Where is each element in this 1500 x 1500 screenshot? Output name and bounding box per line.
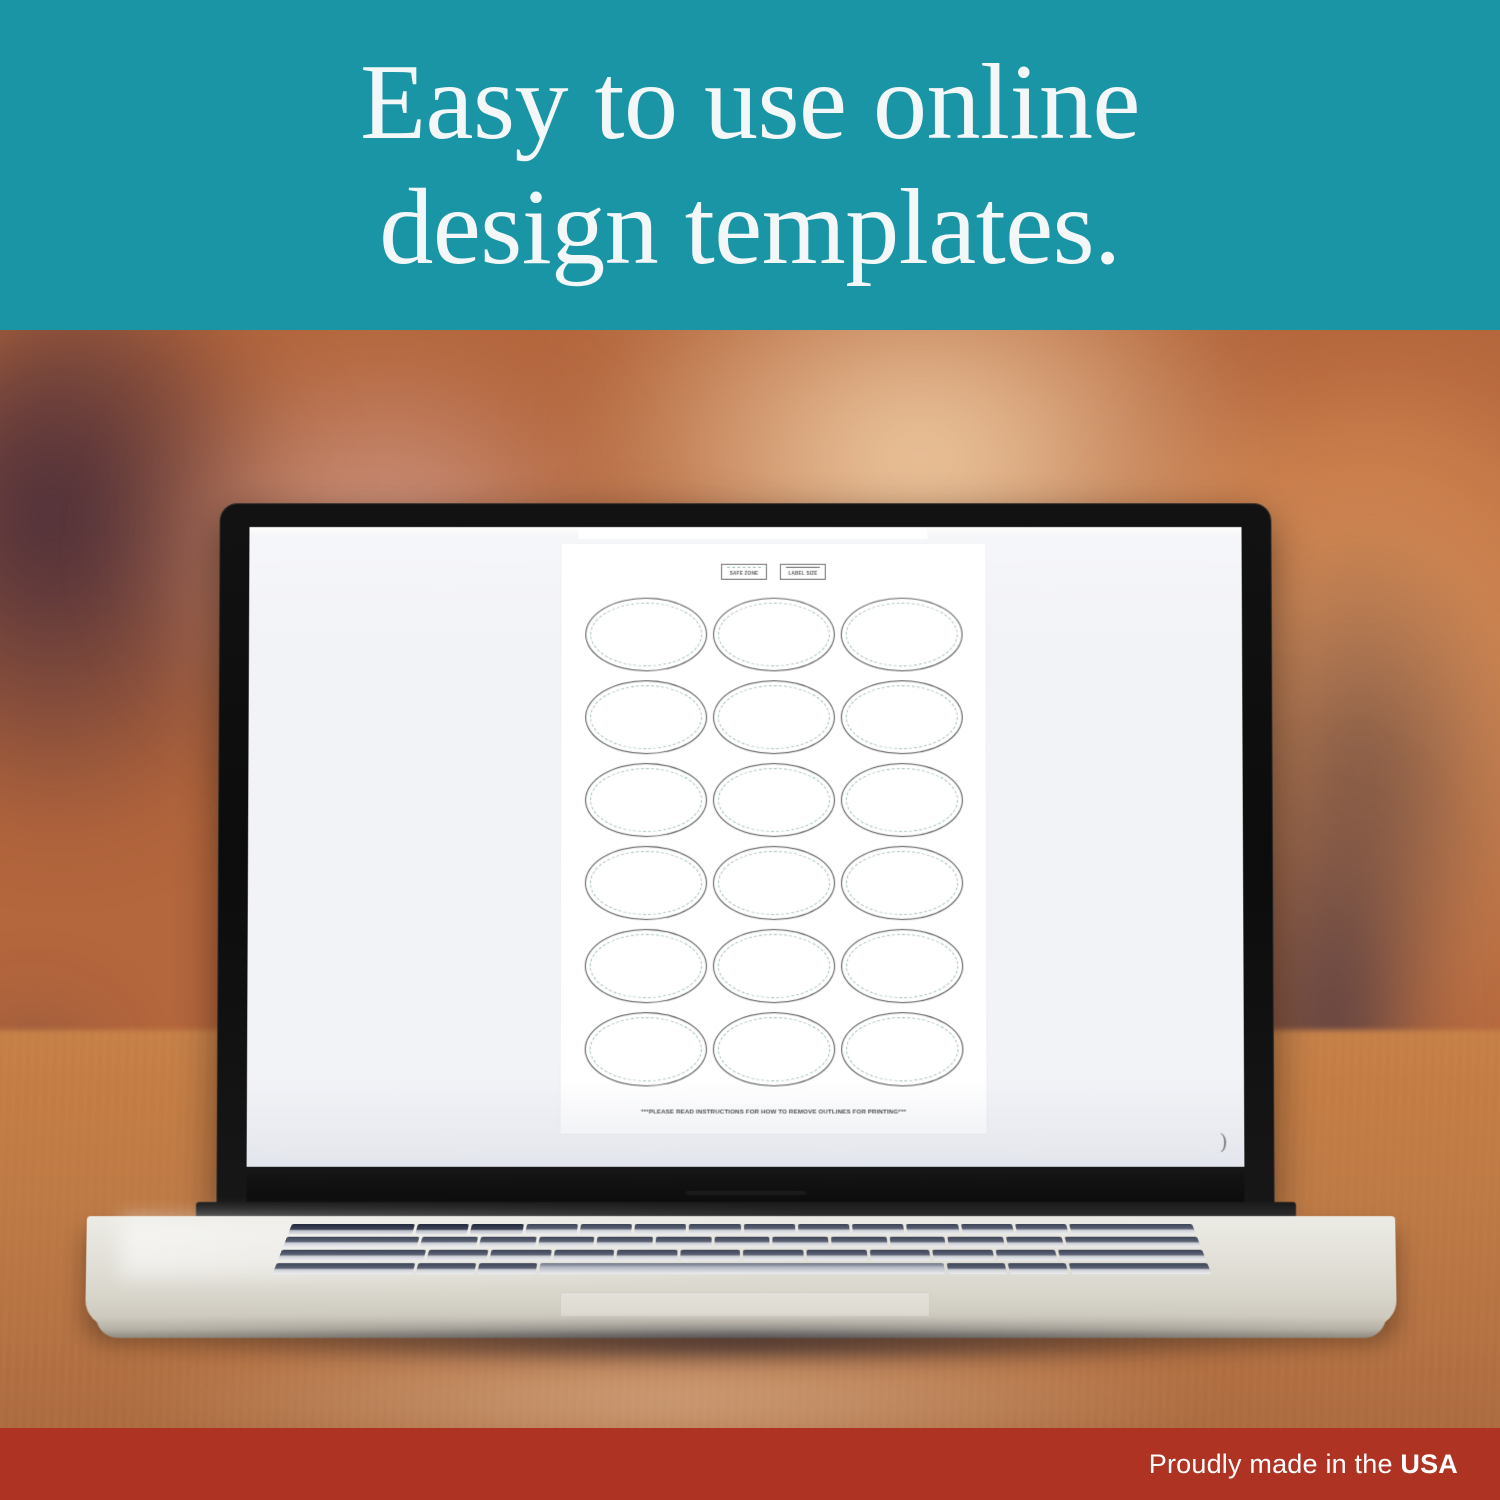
label-cell[interactable] bbox=[711, 676, 836, 759]
key[interactable] bbox=[288, 1224, 415, 1234]
key[interactable] bbox=[1008, 1263, 1069, 1274]
oval-safe-zone bbox=[846, 1017, 958, 1081]
key[interactable] bbox=[1064, 1237, 1201, 1248]
key[interactable] bbox=[420, 1237, 478, 1248]
footer-emphasis: USA bbox=[1400, 1449, 1458, 1479]
oval-safe-zone bbox=[717, 934, 829, 998]
key[interactable] bbox=[283, 1237, 420, 1248]
key[interactable] bbox=[806, 1250, 867, 1261]
headline-line-1: Easy to use online bbox=[200, 40, 1300, 165]
label-cell[interactable] bbox=[711, 842, 836, 925]
key[interactable] bbox=[278, 1250, 426, 1261]
key[interactable] bbox=[655, 1237, 711, 1248]
headline-text-block: Easy to use online design templates. bbox=[200, 40, 1300, 291]
key[interactable] bbox=[680, 1250, 740, 1261]
label-cell[interactable] bbox=[583, 1007, 708, 1090]
label-template-document[interactable]: SAFE ZONE LABEL SIZE bbox=[561, 544, 987, 1134]
key[interactable] bbox=[470, 1224, 524, 1234]
key[interactable] bbox=[995, 1250, 1058, 1261]
oval-safe-zone bbox=[589, 934, 701, 998]
key[interactable] bbox=[773, 1237, 829, 1248]
laptop-screen[interactable]: SAFE ZONE LABEL SIZE bbox=[247, 527, 1245, 1167]
key[interactable] bbox=[415, 1263, 476, 1274]
laptop-keyboard[interactable] bbox=[272, 1224, 1212, 1275]
oval-safe-zone bbox=[718, 768, 830, 832]
oval-label[interactable] bbox=[713, 681, 835, 755]
template-instruction-note: ***PLEASE READ INSTRUCTIONS FOR HOW TO R… bbox=[561, 1109, 987, 1116]
key[interactable] bbox=[714, 1237, 770, 1248]
key[interactable] bbox=[579, 1224, 632, 1234]
key[interactable] bbox=[1015, 1224, 1069, 1234]
label-cell[interactable] bbox=[583, 924, 708, 1007]
key[interactable] bbox=[852, 1224, 905, 1234]
oval-label[interactable] bbox=[712, 846, 834, 920]
oval-label[interactable] bbox=[841, 1012, 963, 1086]
label-cell[interactable] bbox=[711, 759, 836, 842]
oval-label[interactable] bbox=[840, 598, 962, 672]
legend-swatch-solid-icon bbox=[786, 567, 820, 570]
key[interactable] bbox=[889, 1237, 946, 1248]
key[interactable] bbox=[525, 1224, 578, 1234]
key[interactable] bbox=[553, 1250, 615, 1261]
label-cell[interactable] bbox=[839, 594, 964, 676]
keyboard-row[interactable] bbox=[288, 1224, 1196, 1234]
lid-branding bbox=[685, 1191, 805, 1195]
key[interactable] bbox=[426, 1250, 489, 1261]
oval-safe-zone bbox=[589, 1017, 701, 1081]
label-grid bbox=[583, 594, 965, 1091]
scroll-indicator-icon[interactable]: ) bbox=[1220, 1131, 1234, 1153]
label-cell[interactable] bbox=[839, 676, 964, 759]
key-space[interactable] bbox=[538, 1263, 946, 1274]
key[interactable] bbox=[1069, 1224, 1196, 1234]
legend-label-safe-zone: SAFE ZONE bbox=[727, 571, 761, 577]
oval-label[interactable] bbox=[585, 763, 707, 837]
oval-safe-zone bbox=[845, 603, 957, 667]
key[interactable] bbox=[906, 1224, 959, 1234]
key[interactable] bbox=[1058, 1250, 1206, 1261]
template-legend: SAFE ZONE LABEL SIZE bbox=[561, 564, 985, 580]
label-cell[interactable] bbox=[711, 594, 836, 676]
legend-item-label-size: LABEL SIZE bbox=[780, 564, 826, 580]
oval-safe-zone bbox=[846, 934, 958, 998]
keyboard-row[interactable] bbox=[283, 1237, 1201, 1248]
oval-safe-zone bbox=[589, 851, 701, 915]
label-cell[interactable] bbox=[839, 842, 964, 925]
key[interactable] bbox=[948, 1237, 1006, 1248]
laptop-drop-shadow bbox=[150, 1332, 1330, 1366]
legend-swatch-dashed-icon bbox=[727, 567, 761, 570]
screen-top-strip-highlight bbox=[578, 527, 927, 539]
key[interactable] bbox=[798, 1224, 850, 1234]
key[interactable] bbox=[415, 1224, 469, 1234]
key[interactable] bbox=[479, 1237, 537, 1248]
key[interactable] bbox=[272, 1263, 415, 1274]
key[interactable] bbox=[1006, 1237, 1064, 1248]
oval-safe-zone bbox=[718, 603, 830, 667]
laptop-lid: SAFE ZONE LABEL SIZE bbox=[216, 503, 1274, 1213]
label-cell[interactable] bbox=[711, 924, 836, 1007]
laptop: SAFE ZONE LABEL SIZE bbox=[0, 330, 1500, 1500]
key[interactable] bbox=[831, 1237, 888, 1248]
label-cell[interactable] bbox=[839, 759, 964, 842]
oval-safe-zone bbox=[590, 603, 702, 667]
footer-bar: Proudly made in the USA bbox=[0, 1428, 1500, 1500]
oval-safe-zone bbox=[845, 851, 957, 915]
label-cell[interactable] bbox=[583, 842, 708, 925]
key[interactable] bbox=[689, 1224, 741, 1234]
keyboard-row[interactable] bbox=[272, 1263, 1211, 1274]
oval-label[interactable] bbox=[584, 929, 706, 1003]
oval-label[interactable] bbox=[712, 1012, 834, 1086]
oval-safe-zone bbox=[717, 851, 829, 915]
product-photo: SAFE ZONE LABEL SIZE bbox=[0, 330, 1500, 1500]
oval-safe-zone bbox=[845, 686, 957, 750]
key[interactable] bbox=[538, 1237, 595, 1248]
oval-safe-zone bbox=[718, 686, 830, 750]
oval-label[interactable] bbox=[584, 846, 706, 920]
promo-image: Easy to use online design templates. bbox=[0, 0, 1500, 1500]
key[interactable] bbox=[634, 1224, 686, 1234]
legend-item-safe-zone: SAFE ZONE bbox=[721, 564, 767, 580]
headline-banner: Easy to use online design templates. bbox=[0, 0, 1500, 330]
label-cell[interactable] bbox=[583, 759, 708, 842]
label-cell[interactable] bbox=[583, 676, 708, 759]
key[interactable] bbox=[947, 1263, 1007, 1274]
key[interactable] bbox=[961, 1224, 1015, 1234]
oval-label[interactable] bbox=[585, 681, 707, 755]
oval-label[interactable] bbox=[841, 929, 963, 1003]
key[interactable] bbox=[1069, 1263, 1212, 1274]
label-cell[interactable] bbox=[839, 1007, 964, 1090]
oval-label[interactable] bbox=[840, 681, 962, 755]
legend-label-label-size: LABEL SIZE bbox=[786, 571, 820, 577]
oval-label[interactable] bbox=[713, 598, 835, 672]
made-in-usa-text: Proudly made in the USA bbox=[1149, 1449, 1458, 1480]
oval-label[interactable] bbox=[584, 1012, 706, 1086]
oval-safe-zone bbox=[590, 768, 702, 832]
headline-line-2: design templates. bbox=[200, 165, 1300, 290]
oval-safe-zone bbox=[717, 1017, 829, 1081]
oval-safe-zone bbox=[590, 686, 702, 750]
keyboard-row[interactable] bbox=[278, 1250, 1207, 1261]
footer-prefix: Proudly made in the bbox=[1149, 1449, 1401, 1479]
key[interactable] bbox=[596, 1237, 653, 1248]
label-cell[interactable] bbox=[839, 924, 964, 1007]
key[interactable] bbox=[489, 1250, 551, 1261]
oval-label[interactable] bbox=[712, 929, 834, 1003]
key[interactable] bbox=[744, 1224, 796, 1234]
key[interactable] bbox=[932, 1250, 994, 1261]
oval-label[interactable] bbox=[840, 846, 962, 920]
key[interactable] bbox=[616, 1250, 677, 1261]
key[interactable] bbox=[869, 1250, 931, 1261]
oval-label[interactable] bbox=[713, 763, 835, 837]
oval-safe-zone bbox=[845, 768, 957, 832]
key[interactable] bbox=[744, 1250, 804, 1261]
oval-label[interactable] bbox=[585, 598, 707, 672]
label-cell[interactable] bbox=[711, 1007, 836, 1090]
key[interactable] bbox=[477, 1263, 537, 1274]
oval-label[interactable] bbox=[840, 763, 962, 837]
label-cell[interactable] bbox=[583, 594, 708, 676]
